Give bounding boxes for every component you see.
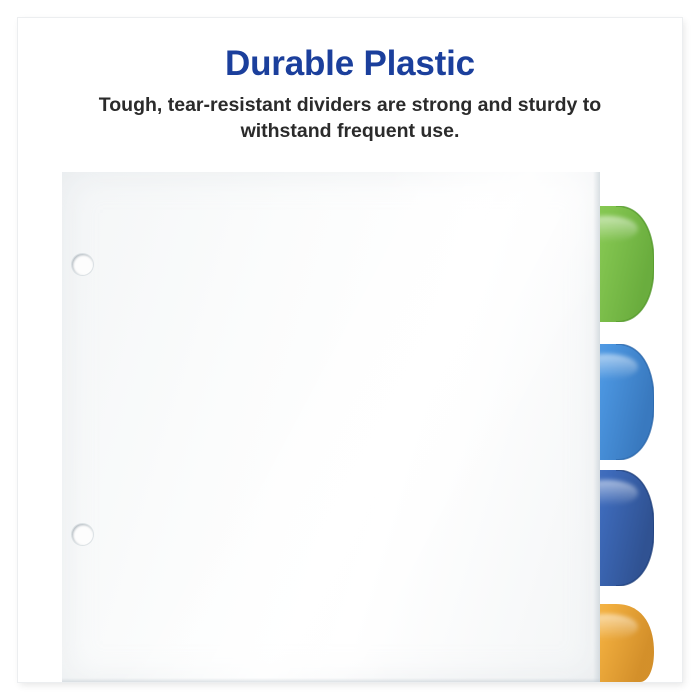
page-title: Durable Plastic [0, 44, 700, 83]
sheet-sheen [62, 172, 600, 682]
headline-block: Durable Plastic Tough, tear-resistant di… [0, 44, 700, 145]
product-photo: Durable Plastic Tough, tear-resistant di… [0, 0, 700, 700]
binder-hole-bottom [72, 524, 93, 545]
binder-hole-top [72, 254, 93, 275]
divider-sheet [62, 172, 600, 682]
page-subtitle: Tough, tear-resistant dividers are stron… [0, 93, 700, 145]
sheet-right-edge [593, 172, 600, 682]
sheet-bottom-edge [62, 678, 600, 682]
